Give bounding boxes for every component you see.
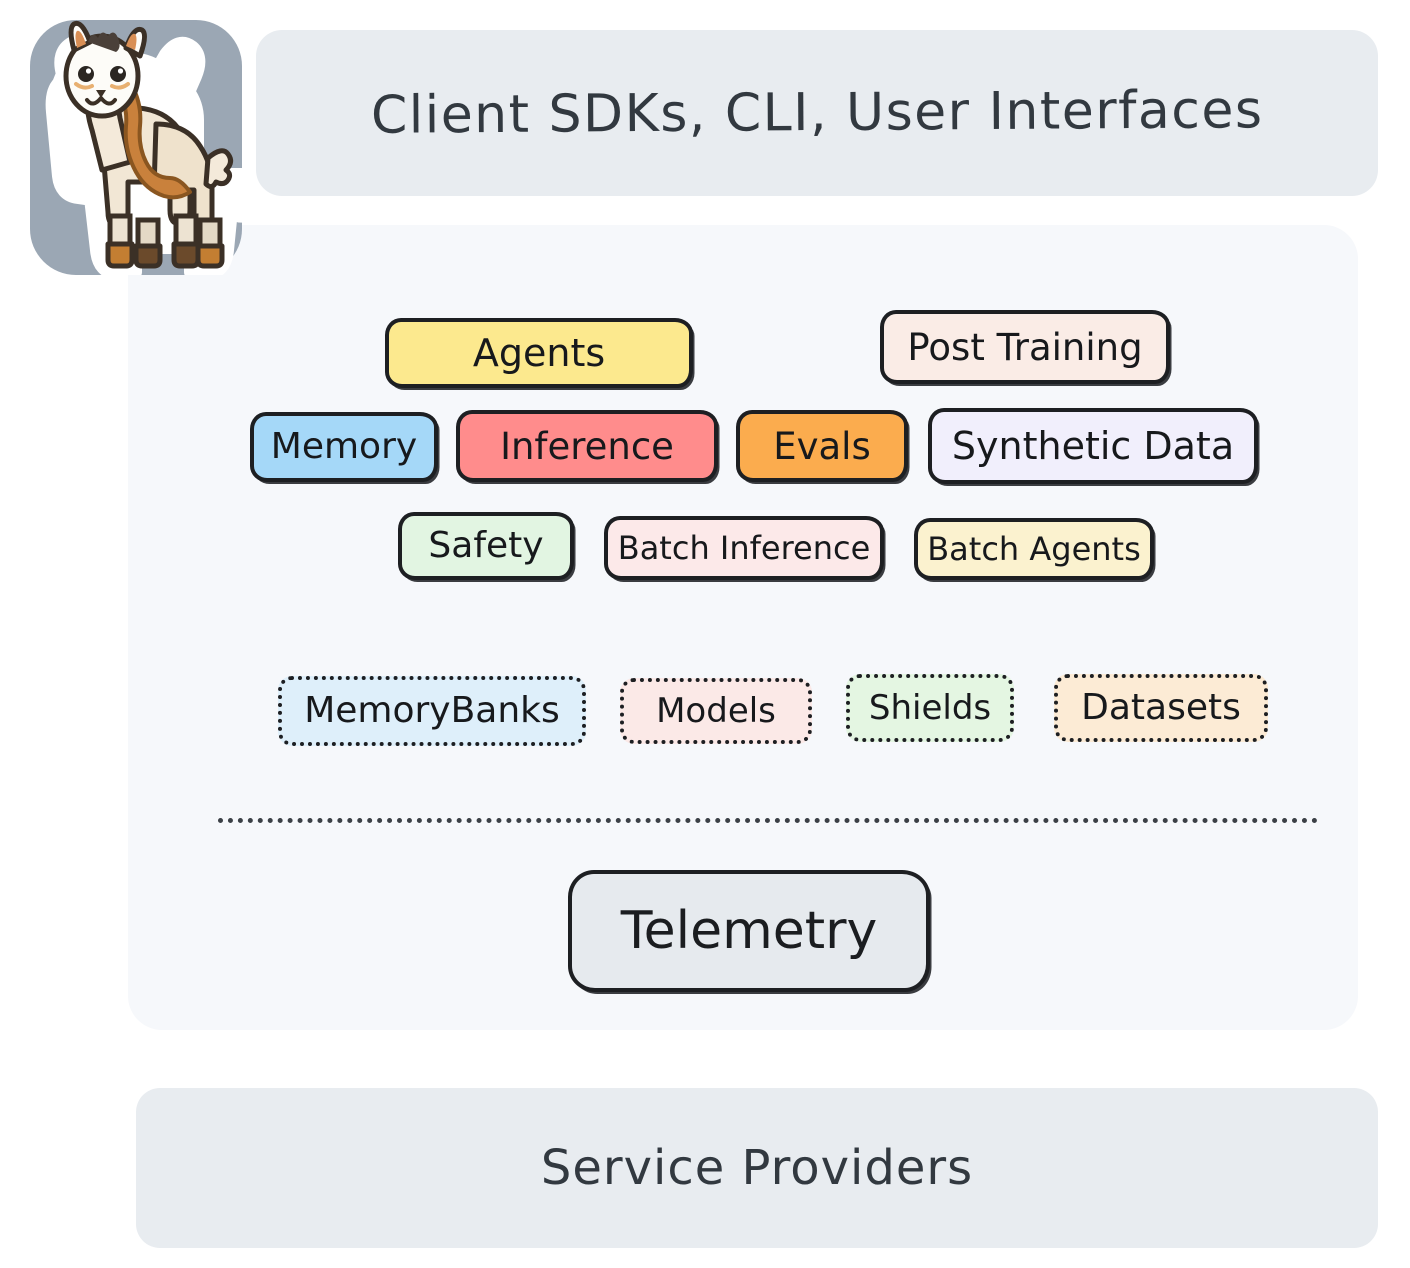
- llama-logo: [30, 20, 242, 275]
- api-box-label: Memory: [271, 429, 417, 465]
- api-box[interactable]: Memory: [250, 412, 438, 482]
- api-box[interactable]: Safety: [398, 512, 574, 580]
- resource-box-label: MemoryBanks: [304, 693, 560, 729]
- api-box-label: Batch Agents: [927, 533, 1141, 565]
- resource-box[interactable]: Shields: [846, 674, 1014, 742]
- api-box-label: Evals: [773, 428, 871, 465]
- resource-box-label: Models: [656, 694, 776, 728]
- api-box[interactable]: Agents: [385, 318, 693, 388]
- api-box[interactable]: Post Training: [880, 310, 1170, 384]
- api-box[interactable]: Inference: [456, 410, 718, 482]
- api-box[interactable]: Evals: [736, 410, 908, 482]
- api-box-label: Agents: [473, 334, 605, 372]
- api-box-label: Safety: [428, 528, 543, 564]
- api-box-label: Inference: [500, 428, 674, 465]
- api-box-label: Synthetic Data: [952, 427, 1234, 465]
- api-box-label: Batch Inference: [618, 532, 871, 564]
- telemetry-label: Telemetry: [621, 901, 878, 961]
- service-providers-banner: Service Providers: [136, 1088, 1378, 1248]
- api-box-label: Post Training: [907, 329, 1142, 366]
- resource-box[interactable]: Datasets: [1054, 674, 1268, 742]
- llama-icon: [30, 20, 242, 275]
- resource-box[interactable]: Models: [620, 678, 812, 744]
- resource-box-label: Shields: [869, 691, 991, 725]
- telemetry-box[interactable]: Telemetry: [568, 870, 930, 992]
- section-divider: [218, 818, 1318, 823]
- api-box[interactable]: Batch Inference: [604, 516, 884, 580]
- api-box[interactable]: Synthetic Data: [928, 408, 1258, 484]
- resource-box[interactable]: MemoryBanks: [278, 676, 586, 746]
- api-box[interactable]: Batch Agents: [914, 518, 1154, 580]
- client-layer-label: Client SDKs, CLI, User Interfaces: [371, 80, 1264, 145]
- service-providers-label: Service Providers: [541, 1140, 973, 1196]
- client-layer-banner: Client SDKs, CLI, User Interfaces: [256, 30, 1378, 196]
- resource-box-label: Datasets: [1081, 690, 1241, 726]
